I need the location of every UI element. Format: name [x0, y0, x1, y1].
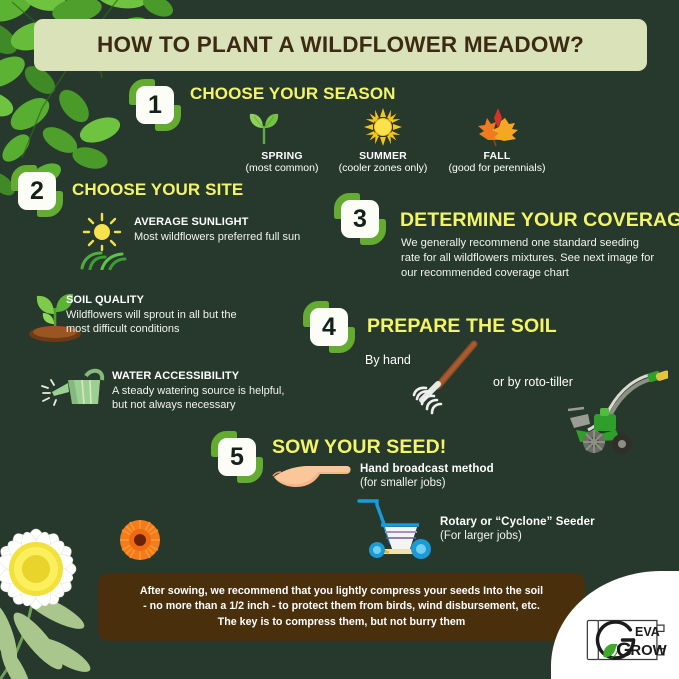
daisy-flower-decoration-icon	[0, 459, 168, 679]
season-name: SUMMER	[318, 150, 448, 162]
open-hand-icon	[272, 461, 354, 493]
item-title: AVERAGE SUNLIGHT	[134, 216, 309, 230]
site-item-water: WATER ACCESSIBILITY A steady watering so…	[112, 370, 287, 412]
step-badge-5: 5	[214, 434, 260, 480]
step-5-heading: SOW YOUR SEED!	[272, 436, 446, 459]
banner-line-3: The key is to compress them, but not bur…	[218, 616, 466, 628]
step-number: 2	[18, 172, 56, 210]
season-note: (good for perennials)	[432, 162, 562, 174]
bottom-note-banner: After sowing, we recommend that you ligh…	[98, 573, 585, 641]
rake-icon	[404, 340, 480, 416]
step-badge-2: 2	[14, 168, 60, 214]
geva-grow-logo-icon[interactable]: EVA ROW G	[585, 615, 671, 665]
banner-line-1: After sowing, we recommend that you ligh…	[140, 585, 543, 597]
method-note: (for smaller jobs)	[360, 476, 560, 491]
step-number: 1	[136, 86, 174, 124]
infographic-poster: HOW TO PLANT A WILDFLOWER MEADOW? 1 CHOO…	[0, 0, 679, 679]
site-item-sunlight: AVERAGE SUNLIGHT Most wildflowers prefer…	[134, 216, 309, 244]
maple-leaf-icon	[474, 106, 520, 148]
step-1-heading: CHOOSE YOUR SEASON	[190, 84, 396, 104]
item-body: A steady watering source is helpful, but…	[112, 384, 287, 412]
step-2-heading: CHOOSE YOUR SITE	[72, 180, 243, 200]
method-title: Hand broadcast method	[360, 462, 560, 476]
item-body: Most wildflowers preferred full sun	[134, 230, 309, 244]
season-note: (cooler zones only)	[318, 162, 448, 174]
watering-can-icon	[38, 366, 108, 412]
step-badge-4: 4	[306, 304, 352, 350]
step-4-heading: PREPARE THE SOIL	[367, 315, 557, 338]
sprout-icon	[245, 108, 283, 146]
method-note: (For larger jobs)	[440, 529, 655, 544]
sun-over-field-icon	[76, 212, 128, 270]
sow-method-hand: Hand broadcast method (for smaller jobs)	[360, 462, 560, 491]
roto-tiller-icon	[550, 368, 668, 456]
step-badge-3: 3	[337, 196, 383, 242]
banner-line-2: - no more than a 1/2 inch - to protect t…	[143, 600, 540, 612]
step-3-heading: DETERMINE YOUR COVERAGE	[400, 209, 679, 232]
site-item-soil: SOIL QUALITY Wildflowers will sprout in …	[66, 294, 251, 336]
sow-method-seeder: Rotary or “Cyclone” Seeder (For larger j…	[440, 515, 655, 544]
item-body: Wildflowers will sprout in all but the m…	[66, 308, 251, 336]
method-title: Rotary or “Cyclone” Seeder	[440, 515, 655, 529]
step-3-body: We generally recommend one standard seed…	[401, 236, 661, 281]
page-title: HOW TO PLANT A WILDFLOWER MEADOW?	[97, 32, 584, 58]
poster-title-bar: HOW TO PLANT A WILDFLOWER MEADOW?	[34, 19, 647, 71]
season-name: FALL	[432, 150, 562, 162]
logo-letter: G	[616, 639, 632, 661]
sun-icon	[364, 108, 402, 146]
logo-word-bottom: ROW	[630, 643, 666, 659]
item-title: WATER ACCESSIBILITY	[112, 370, 287, 384]
item-title: SOIL QUALITY	[66, 294, 251, 308]
cyclone-seeder-icon	[355, 497, 435, 559]
marigold-flower-decoration-icon	[118, 518, 162, 562]
season-caption-summer: SUMMER (cooler zones only)	[318, 150, 448, 174]
step-number: 4	[310, 308, 348, 346]
step-number: 5	[218, 438, 256, 476]
season-caption-fall: FALL (good for perennials)	[432, 150, 562, 174]
step-badge-1: 1	[132, 82, 178, 128]
logo-word-top: EVA	[635, 625, 660, 639]
step-number: 3	[341, 200, 379, 238]
